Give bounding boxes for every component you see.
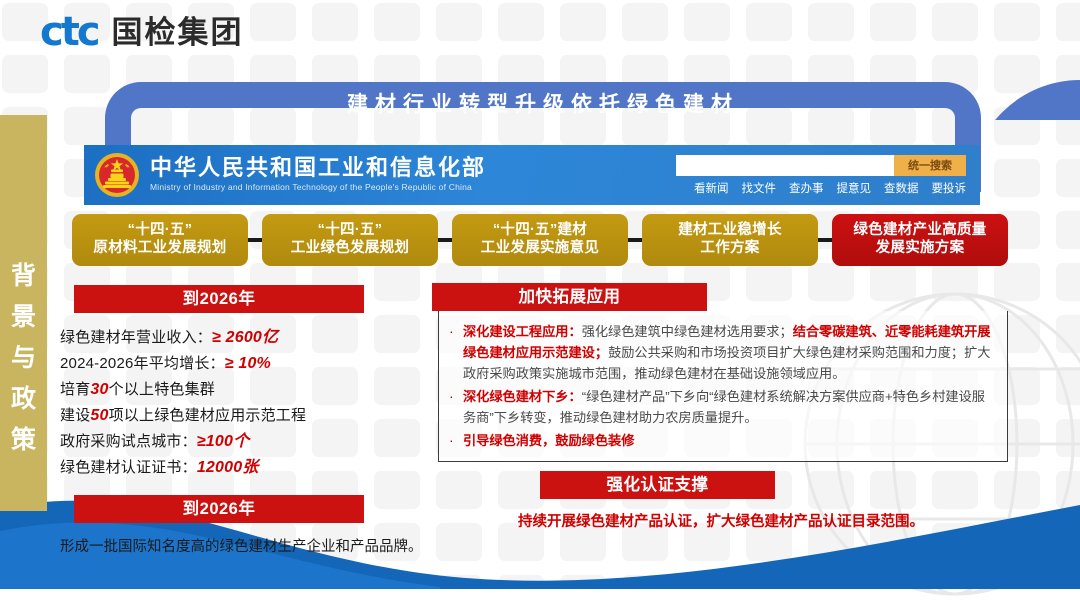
search-row: 统一搜索: [676, 155, 966, 176]
right-panel-heading-2: 强化认证支撑: [540, 471, 775, 499]
chip-connector: [818, 238, 832, 242]
policy-chip-stable-growth-plan[interactable]: 建材工业稳增长 工作方案: [642, 214, 818, 266]
gov-link-data[interactable]: 查数据: [884, 180, 919, 196]
bullet-dot-icon: ·: [449, 430, 457, 451]
policy-chip-line1: 绿色建材产业高质量: [853, 222, 986, 240]
gov-link-services[interactable]: 查办事: [789, 180, 824, 196]
goal-label: 建设: [60, 407, 90, 424]
left-goals-panel: 到2026年 绿色建材年营业收入：≥ 2600亿 2024-2026年平均增长：…: [60, 285, 430, 556]
gov-search-area: 统一搜索 看新闻 找文件 查办事 提意见 查数据 要投诉: [676, 155, 966, 196]
goal-value: 12000张: [197, 459, 259, 476]
goal-line: 政府采购试点城市：≥100个: [60, 429, 430, 455]
policy-chip-line1: “十四·五”: [318, 222, 383, 240]
right-measures-panel: 加快拓展应用 · 深化建设工程应用：强化绿色建筑中绿色建材选用要求；结合零碳建筑…: [432, 283, 1010, 531]
chip-connector: [248, 238, 262, 242]
goal-label: 政府采购试点城市：: [60, 433, 197, 450]
sidebar-char-5: 策: [11, 428, 36, 453]
bullet-text: 深化绿色建材下乡：“绿色建材产品”下乡向“绿色建材系统解决方案供应商+特色乡村建…: [463, 386, 995, 428]
chip-connector: [628, 238, 642, 242]
brand-logo: ctc 国检集团: [40, 12, 244, 52]
search-input[interactable]: [676, 155, 894, 176]
gov-link-feedback[interactable]: 提意见: [837, 180, 872, 196]
bullet-dot-icon: ·: [449, 386, 457, 428]
ctc-logo-mark: ctc: [40, 12, 98, 52]
policy-chip-line2: 发展实施方案: [876, 240, 965, 258]
miit-title-cn: 中华人民共和国工业和信息化部: [150, 156, 486, 181]
left-panel-heading-1: 到2026年: [74, 285, 364, 313]
goal-value: ≥100个: [197, 433, 249, 450]
goal-line: 培育30个以上特色集群: [60, 377, 430, 403]
gov-link-news[interactable]: 看新闻: [694, 180, 729, 196]
goal-value: ≥ 10%: [225, 355, 271, 372]
goal-value: 50: [90, 407, 108, 424]
sidebar-char-2: 景: [11, 305, 36, 330]
goal-line: 绿色建材认证证书：12000张: [60, 455, 430, 481]
goal-value: ≥ 2600亿: [212, 329, 278, 346]
gov-link-complaint[interactable]: 要投诉: [932, 180, 967, 196]
goal-label: 绿色建材认证证书：: [60, 459, 197, 476]
list-item: · 引导绿色消费，鼓励绿色装修: [449, 430, 995, 451]
miit-header-bar: 中华人民共和国工业和信息化部 Ministry of Industry and …: [84, 145, 980, 205]
gov-link-documents[interactable]: 找文件: [742, 180, 777, 196]
goal-label: 绿色建材年营业收入：: [60, 329, 212, 346]
policy-chip-line1: 建材工业稳增长: [678, 222, 782, 240]
list-item: · 深化绿色建材下乡：“绿色建材产品”下乡向“绿色建材系统解决方案供应商+特色乡…: [449, 386, 995, 428]
page-title: 建材行业转型升级依托绿色建材: [105, 88, 981, 122]
bullet-text: 深化建设工程应用：强化绿色建筑中绿色建材选用要求；结合零碳建筑、近零能耗建筑开展…: [463, 321, 995, 384]
goal-label: 培育: [60, 381, 90, 398]
bullet-dot-icon: ·: [449, 321, 457, 384]
sidebar-char-3: 与: [11, 346, 36, 371]
policy-chip-building-materials-opinion[interactable]: “十四·五”建材 工业发展实施意见: [452, 214, 628, 266]
left-goal-list: 绿色建材年营业收入：≥ 2600亿 2024-2026年平均增长：≥ 10% 培…: [60, 325, 430, 481]
left-panel-footnote: 形成一批国际知名度高的绿色建材生产企业和产品品牌。: [60, 535, 430, 556]
policy-chip-line2: 工业绿色发展规划: [291, 240, 409, 258]
left-panel-heading-2: 到2026年: [74, 495, 364, 523]
sidebar-char-1: 背: [11, 264, 36, 289]
gov-quick-links: 看新闻 找文件 查办事 提意见 查数据 要投诉: [694, 180, 966, 196]
sidebar-char-4: 政: [11, 387, 36, 412]
bullet-text: 引导绿色消费，鼓励绿色装修: [463, 430, 634, 451]
policy-chip-raw-material-plan[interactable]: “十四·五” 原材料工业发展规划: [72, 214, 248, 266]
miit-title-en: Ministry of Industry and Information Tec…: [150, 182, 486, 194]
company-name-label: 国检集团: [112, 17, 244, 48]
goal-tail: 个以上特色集群: [109, 381, 215, 398]
unified-search-button[interactable]: 统一搜索: [894, 155, 966, 176]
policy-chip-high-quality-development[interactable]: 绿色建材产业高质量 发展实施方案: [832, 214, 1008, 266]
policy-chip-green-industry-plan[interactable]: “十四·五” 工业绿色发展规划: [262, 214, 438, 266]
goal-tail: 项以上绿色建材应用示范工程: [109, 407, 307, 424]
policy-chip-row: “十四·五” 原材料工业发展规划 “十四·五” 工业绿色发展规划 “十四·五”建…: [72, 212, 1008, 267]
right-panel-heading-1: 加快拓展应用: [432, 283, 707, 311]
policy-chip-line1: “十四·五”: [128, 222, 193, 240]
goal-value: 30: [90, 381, 108, 398]
section-sidebar-tab: 背 景 与 政 策: [0, 115, 47, 511]
goal-line: 2024-2026年平均增长：≥ 10%: [60, 351, 430, 377]
goal-label: 2024-2026年平均增长：: [60, 355, 225, 372]
goal-line: 绿色建材年营业收入：≥ 2600亿: [60, 325, 430, 351]
policy-chip-line2: 工作方案: [700, 240, 759, 258]
policy-chip-line2: 工业发展实施意见: [481, 240, 599, 258]
right-bullet-box: · 深化建设工程应用：强化绿色建筑中绿色建材选用要求；结合零碳建筑、近零能耗建筑…: [438, 311, 1008, 462]
goal-line: 建设50项以上绿色建材应用示范工程: [60, 403, 430, 429]
policy-chip-line2: 原材料工业发展规划: [93, 240, 226, 258]
right-panel-footnote: 持续开展绿色建材产品认证，扩大绿色建材产品认证目录范围。: [432, 510, 1010, 531]
china-national-emblem-icon: [94, 152, 140, 198]
list-item: · 深化建设工程应用：强化绿色建筑中绿色建材选用要求；结合零碳建筑、近零能耗建筑…: [449, 321, 995, 384]
chip-connector: [438, 238, 452, 242]
policy-chip-line1: “十四·五”建材: [493, 222, 587, 240]
